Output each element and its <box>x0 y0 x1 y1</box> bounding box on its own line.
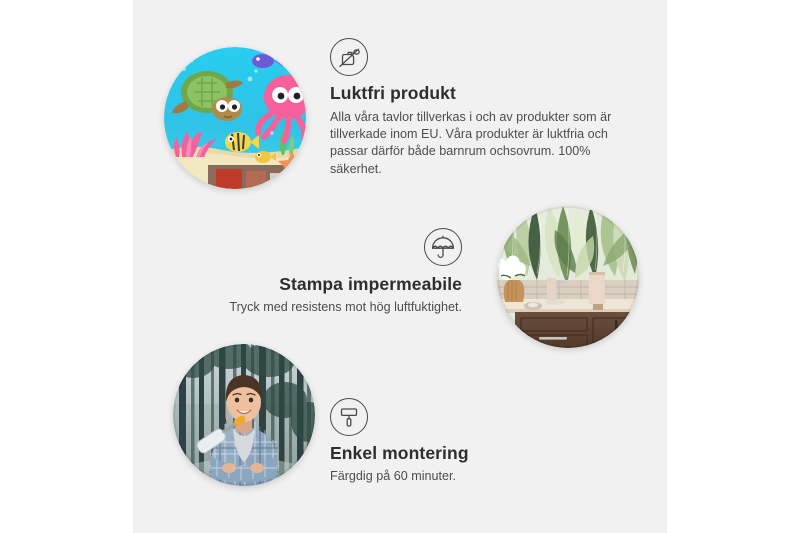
feature-description: Alla våra tavlor tillverkas i och av pro… <box>330 109 620 178</box>
feature-title: Stampa impermeabile <box>200 274 462 295</box>
feature-odourless: Luktfri produkt Alla våra tavlor tillver… <box>330 38 630 178</box>
no-smell-perfume-bottle-icon <box>330 38 368 76</box>
paint-roller-icon <box>330 398 368 436</box>
feature-title: Enkel montering <box>330 443 590 464</box>
feature-easy-install: Enkel montering Färgdig på 60 minuter. <box>330 398 590 485</box>
feature-title: Luktfri produkt <box>330 83 630 104</box>
woman-forest-mural-illustration <box>173 344 315 486</box>
bathroom-botanical-wallpaper-photo <box>497 206 639 348</box>
feature-description: Färgdig på 60 minuter. <box>330 468 590 485</box>
umbrella-icon <box>424 228 462 266</box>
underwater-scene-illustration <box>164 47 306 189</box>
product-feature-banner: Luktfri produkt Alla våra tavlor tillver… <box>0 0 800 533</box>
feature-description: Tryck med resistens mot hög luftfuktighe… <box>200 299 462 316</box>
bathroom-interior-illustration <box>497 206 639 348</box>
woman-paint-roller-forest-photo <box>173 344 315 486</box>
feature-waterproof: Stampa impermeabile Tryck med resistens … <box>200 228 462 316</box>
underwater-cartoon-mural-photo <box>164 47 306 189</box>
